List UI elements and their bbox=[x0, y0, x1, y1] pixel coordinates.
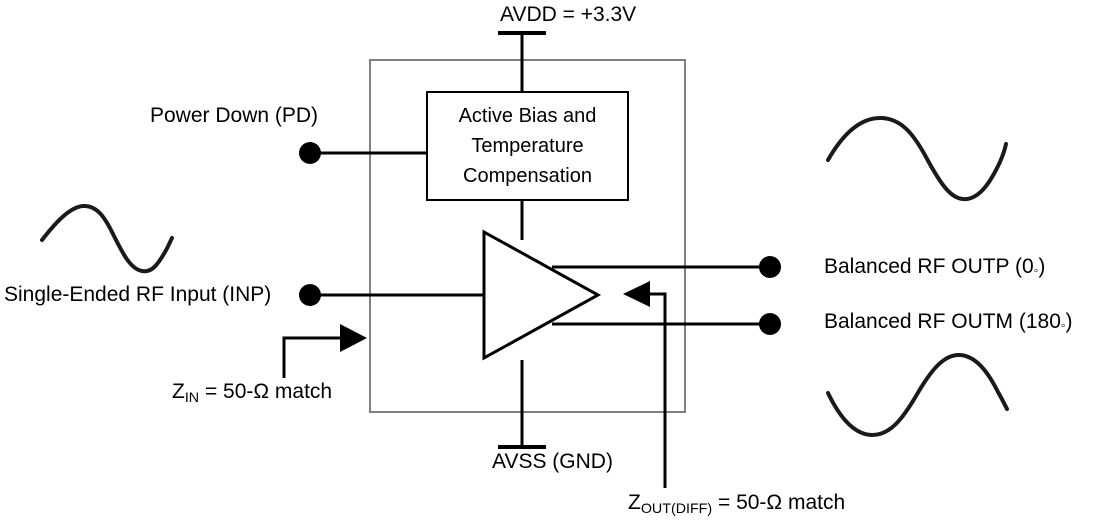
active-bias-line-1: Active Bias and bbox=[427, 101, 628, 131]
output-impedance-subscript: OUT(DIFF) bbox=[641, 501, 712, 517]
outm-label-tail: ) bbox=[1066, 310, 1073, 333]
outp-label: Balanced RF OUTP (0◦) bbox=[824, 255, 1045, 279]
active-bias-line-2: Temperature bbox=[427, 131, 628, 161]
input-sine-waveform bbox=[42, 206, 172, 271]
rf-amplifier-block-diagram: AVDD = +3.3V AVSS (GND) Power Down (PD) … bbox=[0, 0, 1100, 526]
input-impedance-subscript: IN bbox=[185, 390, 199, 406]
rf-input-label: Single-Ended RF Input (INP) bbox=[4, 283, 271, 307]
avss-label: AVSS (GND) bbox=[492, 450, 613, 474]
amplifier-triangle-symbol bbox=[484, 232, 598, 358]
outp-label-tail: ) bbox=[1038, 255, 1045, 278]
outp-sine-waveform bbox=[828, 118, 1006, 199]
outm-pin-dot[interactable] bbox=[759, 313, 781, 335]
outm-sine-waveform bbox=[828, 355, 1007, 435]
rf-input-pin-dot[interactable] bbox=[299, 284, 321, 306]
output-impedance-arrow-left-icon bbox=[623, 281, 650, 307]
active-bias-block-text: Active Bias and Temperature Compensation bbox=[427, 101, 628, 191]
outm-label-main: Balanced RF OUTM (180 bbox=[824, 310, 1061, 333]
power-down-pin-dot[interactable] bbox=[299, 142, 321, 164]
outp-pin-dot[interactable] bbox=[759, 256, 781, 278]
input-impedance-arrow-right-icon bbox=[340, 324, 367, 352]
outm-label: Balanced RF OUTM (180◦) bbox=[824, 310, 1073, 334]
avdd-label: AVDD = +3.3V bbox=[500, 3, 636, 27]
power-down-label: Power Down (PD) bbox=[150, 104, 318, 128]
input-impedance-symbol: Z bbox=[172, 380, 185, 403]
outp-label-main: Balanced RF OUTP (0 bbox=[824, 255, 1034, 278]
input-impedance-leader-line bbox=[284, 338, 345, 378]
active-bias-line-3: Compensation bbox=[427, 161, 628, 191]
output-impedance-label: ZOUT(DIFF) = 50-Ω match bbox=[628, 491, 845, 517]
output-impedance-symbol: Z bbox=[628, 491, 641, 514]
input-impedance-label: ZIN = 50-Ω match bbox=[172, 380, 332, 406]
output-impedance-value: = 50-Ω match bbox=[712, 491, 845, 514]
input-impedance-value: = 50-Ω match bbox=[199, 380, 332, 403]
